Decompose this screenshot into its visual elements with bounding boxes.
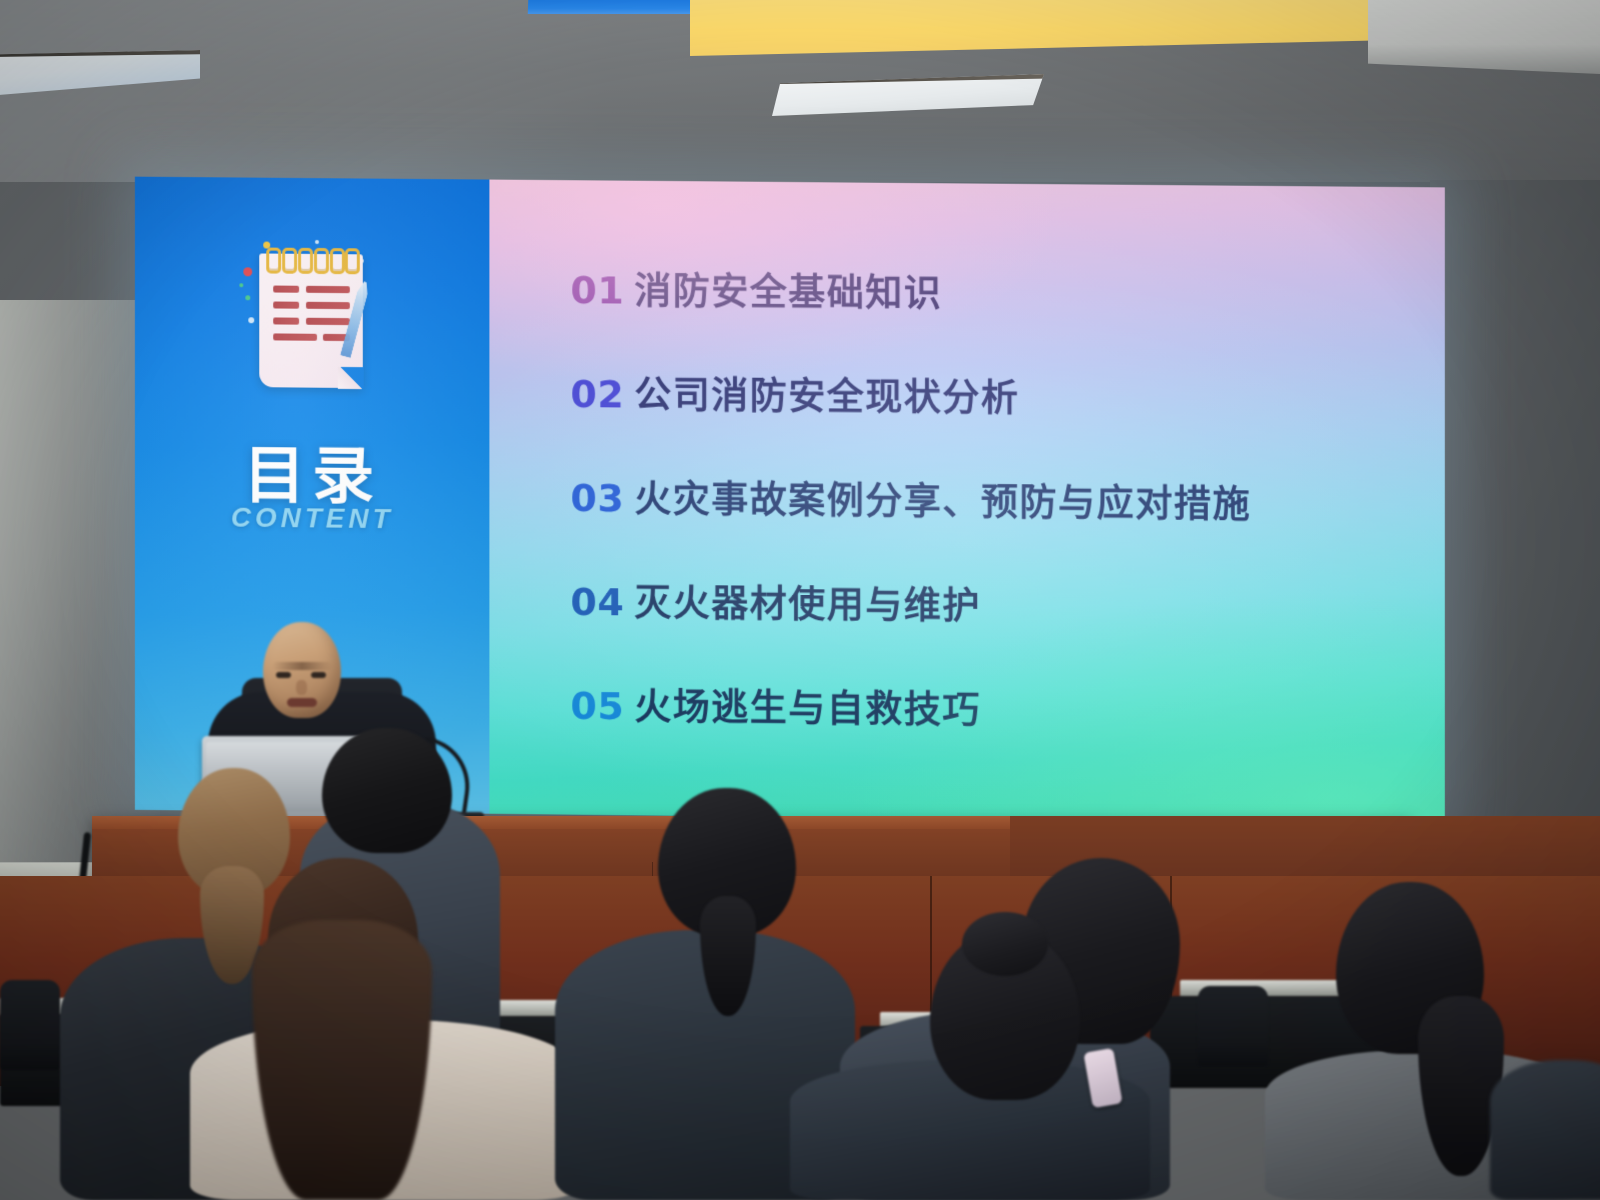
toc-number: 03 (571, 476, 635, 521)
toc-label: 灭火器材使用与维护 (634, 572, 981, 629)
notepad-checklist-icon (238, 239, 387, 400)
toc-number: 05 (571, 684, 635, 729)
slide-panel-title-en: CONTENT (135, 501, 490, 536)
chair (1198, 986, 1268, 1066)
toc-label: 火灾事故案例分享、预防与应对措施 (634, 469, 1251, 529)
list-item: 03 火灾事故案例分享、预防与应对措施 (571, 468, 1416, 530)
list-item (1490, 1060, 1600, 1200)
back-wall-right (1430, 180, 1600, 860)
list-item: 05 火场逃生与自救技巧 (571, 676, 1416, 739)
presentation-room-photo: 目录 CONTENT 01 消防安全基础知识 02 公司消防安全现状分析 03 … (0, 0, 1600, 1200)
list-item: 01 消防安全基础知识 (571, 260, 1416, 321)
list-item: 04 灭火器材使用与维护 (571, 572, 1416, 635)
table-of-contents: 01 消防安全基础知识 02 公司消防安全现状分析 03 火灾事故案例分享、预防… (571, 260, 1416, 789)
presenter-head (263, 622, 341, 718)
toc-label: 公司消防安全现状分析 (634, 365, 1019, 423)
attendee-head (322, 728, 452, 853)
long-hair (252, 920, 432, 1200)
top-blue-strip (528, 0, 706, 14)
chair (0, 980, 60, 1070)
list-item: 02 公司消防安全现状分析 (571, 364, 1416, 426)
toc-label: 消防安全基础知识 (634, 261, 942, 318)
hair-bun (962, 912, 1048, 976)
toc-number: 02 (571, 372, 635, 417)
slide-right-panel: 01 消防安全基础知识 02 公司消防安全现状分析 03 火灾事故案例分享、预防… (490, 180, 1445, 825)
toc-number: 04 (571, 580, 635, 625)
top-gray-strip (1368, 0, 1600, 74)
toc-label: 火场逃生与自救技巧 (634, 676, 981, 734)
toc-number: 01 (571, 268, 635, 313)
attendee-far-right (1490, 1060, 1600, 1200)
